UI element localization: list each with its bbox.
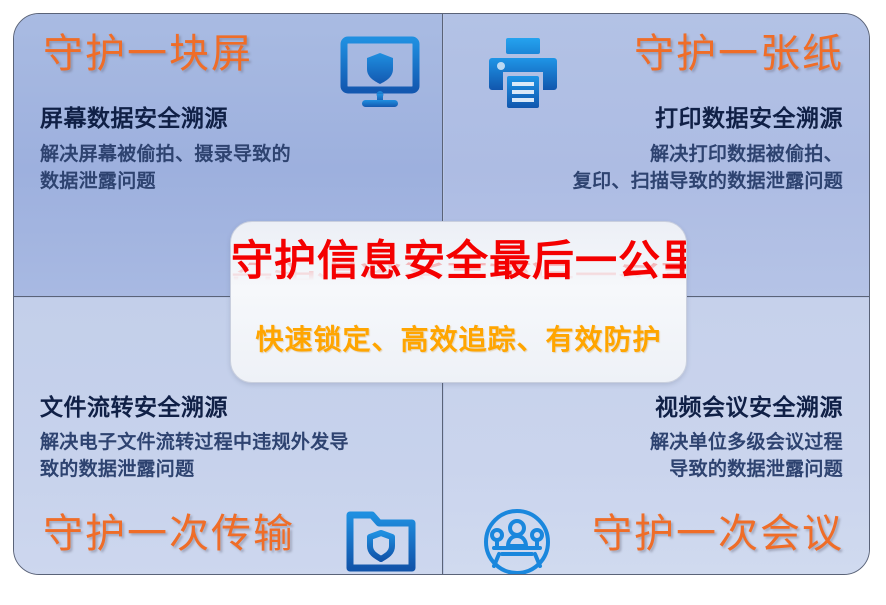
slogan-file-transfer: 守护一次传输 [43, 514, 295, 554]
headline-file-transfer: 文件流转安全溯源 [40, 388, 228, 422]
headline-print: 打印数据安全溯源 [655, 99, 843, 133]
description-screen: 解决屏幕被偷拍、摄录导致的 数据泄露问题 [40, 142, 291, 196]
description-video-meeting: 解决单位多级会议过程 导致的数据泄露问题 [650, 430, 843, 484]
headline-video-meeting: 视频会议安全溯源 [655, 388, 843, 422]
slogan-video-meeting: 守护一次会议 [592, 514, 844, 554]
description-line: 数据泄露问题 [40, 169, 291, 196]
callout-title: 守护信息安全最后一公里 [231, 240, 686, 282]
description-line: 导致的数据泄露问题 [650, 457, 843, 484]
poster-panel: 守护一块屏 屏幕数据安全溯源 解决屏幕被偷拍、摄录导致的 数据泄露问题 [13, 13, 870, 575]
description-print: 解决打印数据被偷拍、 复印、扫描导致的数据泄露问题 [573, 142, 843, 196]
description-line: 解决屏幕被偷拍、摄录导致的 [40, 142, 291, 169]
printer-icon [482, 36, 564, 115]
description-line: 解决单位多级会议过程 [650, 430, 843, 457]
description-line: 致的数据泄露问题 [40, 457, 349, 484]
slogan-screen: 守护一块屏 [43, 34, 253, 74]
center-callout[interactable]: 守护信息安全最后一公里 守护信息安全最后一公里 快速锁定、高效追踪、有效防护 [230, 221, 687, 383]
folder-shield-icon [344, 509, 418, 575]
description-file-transfer: 解决电子文件流转过程中违规外发导 致的数据泄露问题 [40, 430, 349, 484]
slogan-print: 守护一张纸 [634, 34, 844, 74]
meeting-people-icon [480, 506, 554, 575]
callout-subtitle: 快速锁定、高效追踪、有效防护 [231, 318, 686, 358]
monitor-shield-icon [336, 36, 424, 113]
description-line: 解决打印数据被偷拍、 [573, 142, 843, 169]
description-line: 解决电子文件流转过程中违规外发导 [40, 430, 349, 457]
headline-screen: 屏幕数据安全溯源 [40, 99, 228, 133]
description-line: 复印、扫描导致的数据泄露问题 [573, 169, 843, 196]
